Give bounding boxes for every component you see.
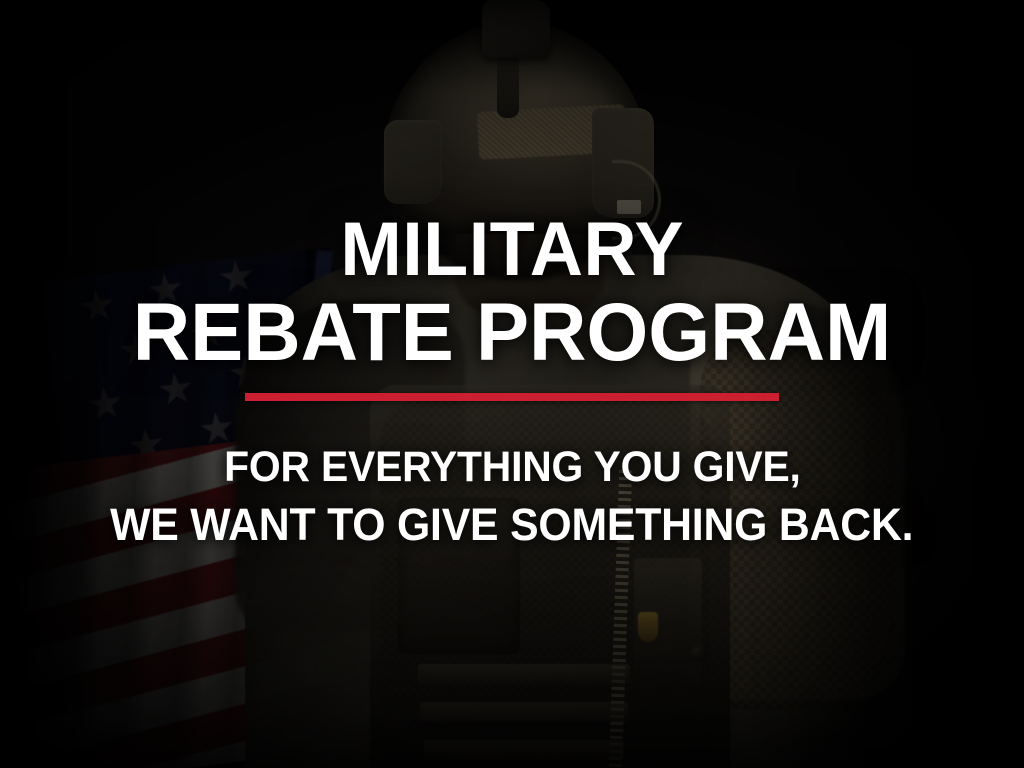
- military-rebate-poster: MILITARY REBATE PROGRAM FOR EVERYTHING Y…: [0, 0, 1024, 768]
- red-divider-rule: [245, 393, 779, 401]
- page-title-line-1: MILITARY: [340, 212, 684, 287]
- subtitle-line-1: FOR EVERYTHING YOU GIVE,: [224, 443, 801, 491]
- page-title-line-2: REBATE PROGRAM: [133, 292, 892, 373]
- poster-text-content: MILITARY REBATE PROGRAM FOR EVERYTHING Y…: [0, 0, 1024, 768]
- subtitle-line-2: WE WANT TO GIVE SOMETHING BACK.: [110, 500, 913, 550]
